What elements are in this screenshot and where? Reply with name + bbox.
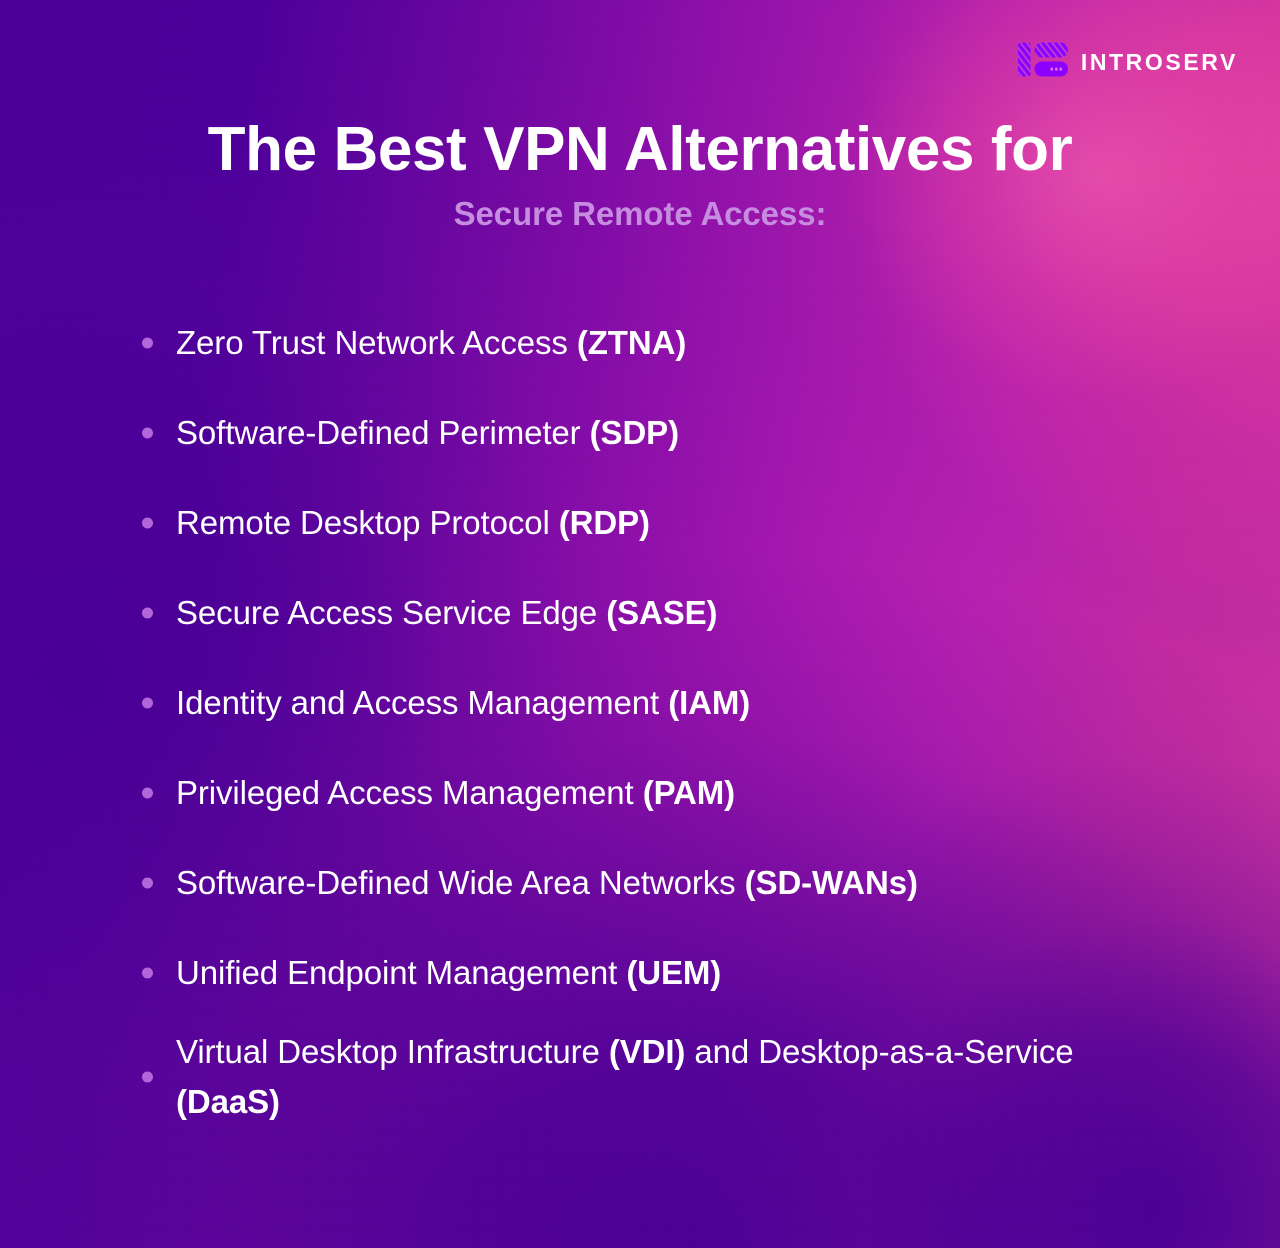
brand-name: INTROSERV <box>1081 51 1238 74</box>
list-item-acronym: (ZTNA) <box>577 324 686 361</box>
bullet-dot-icon <box>142 878 153 889</box>
list-item-text-plain: Software-Defined Perimeter <box>176 414 590 451</box>
list-item-label: Unified Endpoint Management (UEM) <box>176 948 721 998</box>
list-item-acronym: (IAM) <box>668 684 750 721</box>
list-item-acronym: (SASE) <box>606 594 717 631</box>
list-item: Privileged Access Management (PAM) <box>138 755 1198 831</box>
list-item-text-plain: Virtual Desktop Infrastructure <box>176 1033 609 1070</box>
bullet-dot-icon <box>142 608 153 619</box>
list-item-acronym: (RDP) <box>559 504 650 541</box>
list-item-label: Software-Defined Wide Area Networks (SD-… <box>176 858 918 908</box>
bullet-dot-icon <box>142 518 153 529</box>
list-item-label: Secure Access Service Edge (SASE) <box>176 588 717 638</box>
list-item-acronym: (UEM) <box>626 954 721 991</box>
list-item: Unified Endpoint Management (UEM) <box>138 935 1198 1011</box>
list-item-label: Virtual Desktop Infrastructure (VDI) and… <box>176 1027 1136 1127</box>
list-item: Secure Access Service Edge (SASE) <box>138 575 1198 651</box>
bullet-dot-icon <box>142 1072 153 1083</box>
list-item-acronym: (VDI) <box>609 1033 686 1070</box>
list-item: Software-Defined Perimeter (SDP) <box>138 395 1198 471</box>
list-item: Software-Defined Wide Area Networks (SD-… <box>138 845 1198 921</box>
list-item-label: Zero Trust Network Access (ZTNA) <box>176 318 686 368</box>
list-item: Remote Desktop Protocol (RDP) <box>138 485 1198 561</box>
list-item-text-plain: Identity and Access Management <box>176 684 668 721</box>
list-item-text-plain: Privileged Access Management <box>176 774 643 811</box>
list-item-acronym: (SD-WANs) <box>745 864 918 901</box>
bullet-dot-icon <box>142 428 153 439</box>
page-title: The Best VPN Alternatives for <box>0 117 1280 184</box>
list-item-label: Remote Desktop Protocol (RDP) <box>176 498 650 548</box>
list-item-label: Software-Defined Perimeter (SDP) <box>176 408 679 458</box>
vpn-alternatives-list: Zero Trust Network Access (ZTNA)Software… <box>138 305 1198 1129</box>
bullet-dot-icon <box>142 698 153 709</box>
list-item-text-plain: Software-Defined Wide Area Networks <box>176 864 745 901</box>
list-item-label: Identity and Access Management (IAM) <box>176 678 750 728</box>
list-item-text-plain: Zero Trust Network Access <box>176 324 577 361</box>
list-item: Zero Trust Network Access (ZTNA) <box>138 305 1198 381</box>
list-item-label: Privileged Access Management (PAM) <box>176 768 735 818</box>
list-item-acronym: (SDP) <box>590 414 679 451</box>
bullet-dot-icon <box>142 338 153 349</box>
bullet-dot-icon <box>142 968 153 979</box>
list-item-text-plain: Unified Endpoint Management <box>176 954 626 991</box>
list-item-text-plain: Remote Desktop Protocol <box>176 504 559 541</box>
list-item-text-plain: Secure Access Service Edge <box>176 594 606 631</box>
bullet-dot-icon <box>142 788 153 799</box>
introserv-server-logo-icon <box>1018 41 1068 83</box>
list-item-acronym: (DaaS) <box>176 1083 280 1120</box>
list-item: Identity and Access Management (IAM) <box>138 665 1198 741</box>
list-item-text-plain: and Desktop-as-a-Service <box>685 1033 1073 1070</box>
list-item-acronym: (PAM) <box>643 774 735 811</box>
list-item: Virtual Desktop Infrastructure (VDI) and… <box>138 1025 1198 1129</box>
slide-canvas: INTROSERV The Best VPN Alternatives for … <box>0 0 1280 1248</box>
page-subtitle: Secure Remote Access: <box>0 196 1280 232</box>
brand-logo[interactable]: INTROSERV <box>1018 41 1238 83</box>
